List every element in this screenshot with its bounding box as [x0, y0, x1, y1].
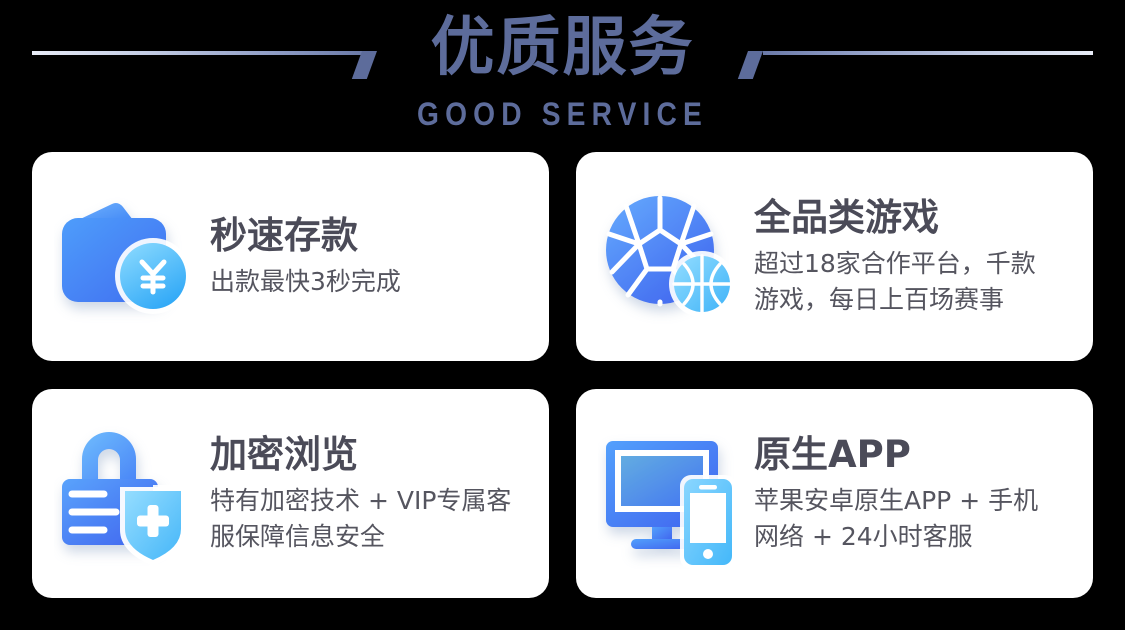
card-description: 超过18家合作平台，千款 游戏，每日上百场赛事 [754, 246, 1083, 318]
service-card-grid: 秒速存款 出款最快3秒完成 [32, 152, 1093, 598]
page-title: 优质服务 [0, 10, 1125, 86]
service-card-native-app[interactable]: 原生APP 苹果安卓原生APP + 手机 网络 + 24小时客服 [576, 389, 1093, 598]
card-description-line: 超过18家合作平台，千款 [754, 246, 1083, 282]
card-description-line: 服保障信息安全 [210, 519, 539, 555]
card-title: 原生APP [754, 433, 1083, 477]
card-text-block: 原生APP 苹果安卓原生APP + 手机 网络 + 24小时客服 [748, 433, 1093, 555]
card-description: 苹果安卓原生APP + 手机 网络 + 24小时客服 [754, 483, 1083, 555]
card-text-block: 秒速存款 出款最快3秒完成 [204, 214, 549, 300]
monitor-phone-icon [598, 419, 748, 569]
service-card-encrypted-browsing[interactable]: 加密浏览 特有加密技术 + VIP专属客 服保障信息安全 [32, 389, 549, 598]
card-description: 特有加密技术 + VIP专属客 服保障信息安全 [210, 483, 539, 555]
card-description-line: 网络 + 24小时客服 [754, 519, 1083, 555]
card-description-line: 苹果安卓原生APP + 手机 [754, 483, 1083, 519]
wallet-yen-icon [54, 182, 204, 332]
page-header: 优质服务 GOOD SERVICE [0, 0, 1125, 140]
service-card-all-category-games[interactable]: 全品类游戏 超过18家合作平台，千款 游戏，每日上百场赛事 [576, 152, 1093, 361]
lock-shield-icon [54, 419, 204, 569]
card-description: 出款最快3秒完成 [210, 264, 539, 300]
soccer-basketball-icon [598, 182, 748, 332]
card-description-line: 特有加密技术 + VIP专属客 [210, 483, 539, 519]
card-description-line: 游戏，每日上百场赛事 [754, 282, 1083, 318]
card-title: 全品类游戏 [754, 196, 1083, 240]
card-title: 秒速存款 [210, 214, 539, 258]
card-text-block: 全品类游戏 超过18家合作平台，千款 游戏，每日上百场赛事 [748, 196, 1093, 318]
service-card-fast-deposit[interactable]: 秒速存款 出款最快3秒完成 [32, 152, 549, 361]
card-description-line: 出款最快3秒完成 [210, 264, 539, 300]
card-text-block: 加密浏览 特有加密技术 + VIP专属客 服保障信息安全 [204, 433, 549, 555]
page-subtitle: GOOD SERVICE [68, 96, 1058, 132]
card-title: 加密浏览 [210, 433, 539, 477]
